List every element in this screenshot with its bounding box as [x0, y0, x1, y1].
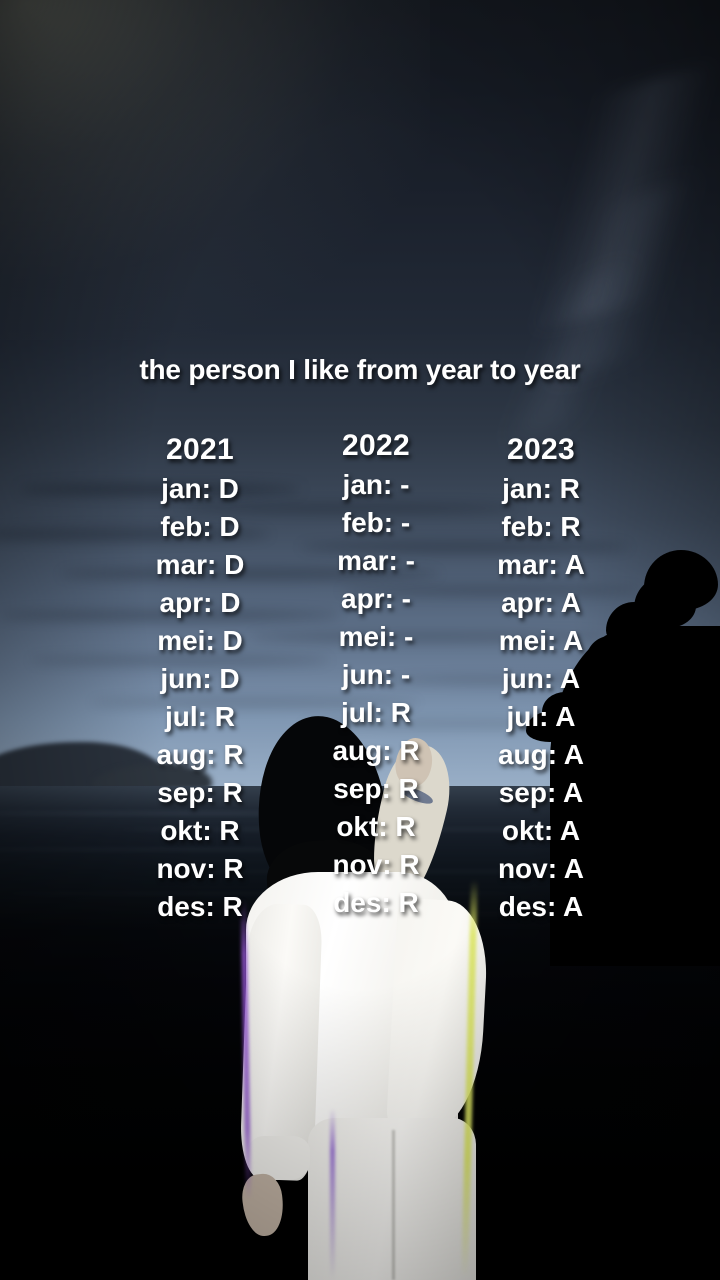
month-row: nov: R: [115, 850, 285, 888]
month-row: mar: -: [291, 542, 461, 580]
month-row: mar: D: [115, 546, 285, 584]
month-row: feb: -: [291, 504, 461, 542]
month-row: mei: A: [456, 622, 626, 660]
month-row: jul: R: [115, 698, 285, 736]
month-row: sep: A: [456, 774, 626, 812]
year-columns: 2021 jan: D feb: D mar: D apr: D mei: D …: [0, 428, 720, 928]
month-row: apr: D: [115, 584, 285, 622]
month-row: jul: R: [291, 694, 461, 732]
month-row: nov: A: [456, 850, 626, 888]
month-row: nov: R: [291, 846, 461, 884]
month-row: jun: D: [115, 660, 285, 698]
text-overlay: the person I like from year to year 2021…: [0, 0, 720, 1280]
month-row: mar: A: [456, 546, 626, 584]
month-row: sep: R: [115, 774, 285, 812]
month-row: aug: R: [291, 732, 461, 770]
year-heading: 2021: [115, 432, 285, 468]
month-row: feb: D: [115, 508, 285, 546]
month-row: aug: R: [115, 736, 285, 774]
month-row: des: A: [456, 888, 626, 926]
month-row: apr: -: [291, 580, 461, 618]
month-row: feb: R: [456, 508, 626, 546]
month-row: jan: R: [456, 470, 626, 508]
month-row: aug: A: [456, 736, 626, 774]
page-title: the person I like from year to year: [0, 354, 720, 386]
year-heading: 2023: [456, 432, 626, 468]
month-row: jan: D: [115, 470, 285, 508]
year-column-2023: 2023 jan: R feb: R mar: A apr: A mei: A …: [456, 432, 626, 926]
month-row: mei: -: [291, 618, 461, 656]
month-row: jul: A: [456, 698, 626, 736]
year-column-2022: 2022 jan: - feb: - mar: - apr: - mei: - …: [291, 428, 461, 922]
month-row: des: R: [115, 888, 285, 926]
month-row: des: R: [291, 884, 461, 922]
month-row: okt: R: [115, 812, 285, 850]
month-row: jan: -: [291, 466, 461, 504]
year-column-2021: 2021 jan: D feb: D mar: D apr: D mei: D …: [115, 432, 285, 926]
month-row: jun: A: [456, 660, 626, 698]
month-row: apr: A: [456, 584, 626, 622]
month-row: okt: R: [291, 808, 461, 846]
month-row: sep: R: [291, 770, 461, 808]
month-row: okt: A: [456, 812, 626, 850]
month-row: mei: D: [115, 622, 285, 660]
month-row: jun: -: [291, 656, 461, 694]
screenshot-root: the person I like from year to year 2021…: [0, 0, 720, 1280]
year-heading: 2022: [291, 428, 461, 464]
